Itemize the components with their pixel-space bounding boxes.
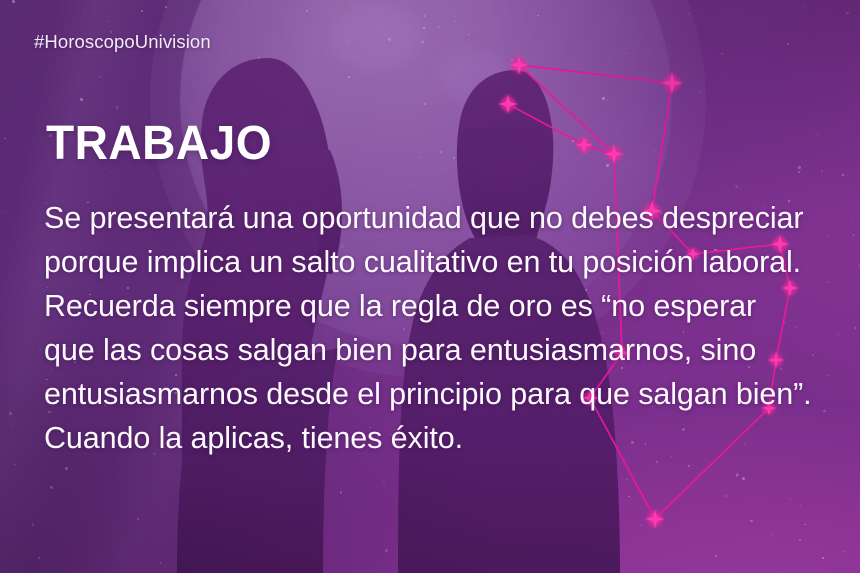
horoscope-card: #HoroscopoUnivision TRABAJO Se presentar… [0, 0, 860, 573]
content-layer: #HoroscopoUnivision TRABAJO Se presentar… [0, 0, 860, 573]
horoscope-paragraph: Se presentará una oportunidad que no deb… [44, 196, 814, 460]
page-title: TRABAJO [46, 120, 272, 168]
horoscope-body-text: Se presentará una oportunidad que no deb… [44, 196, 814, 460]
hashtag-label: #HoroscopoUnivision [34, 31, 211, 53]
